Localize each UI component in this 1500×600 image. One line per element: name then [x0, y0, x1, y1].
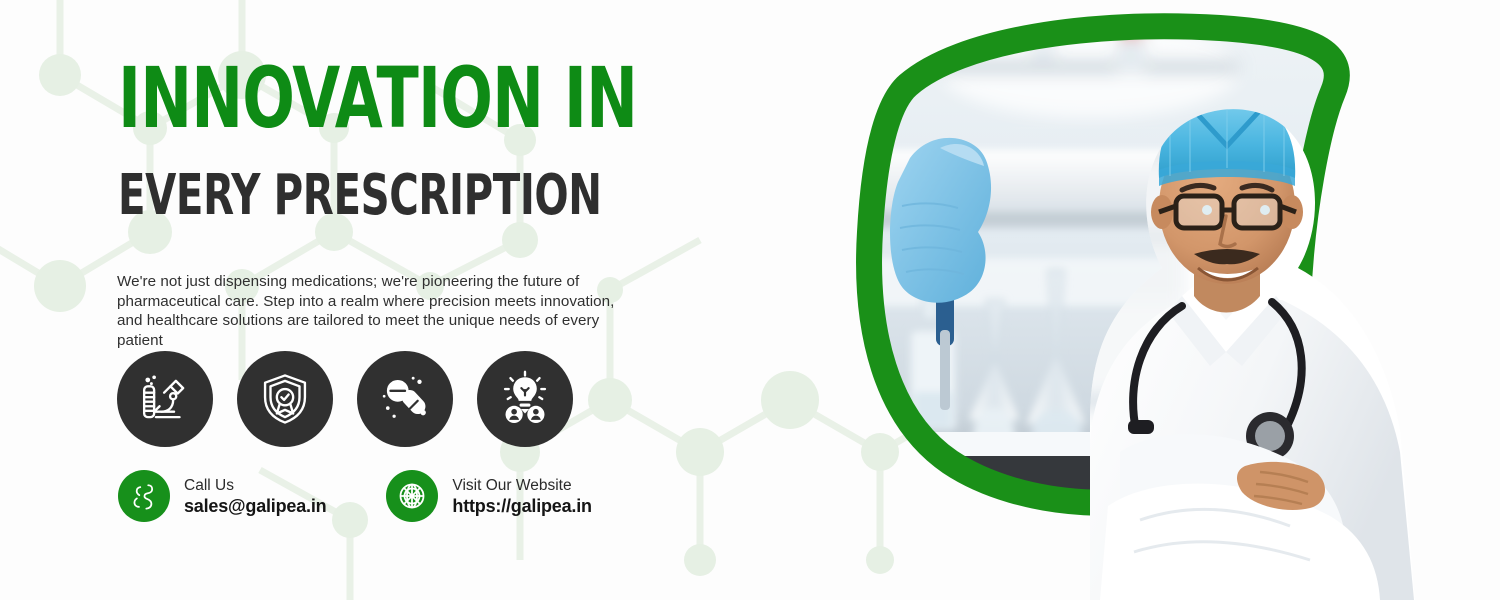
website-value[interactable]: https://galipea.in — [452, 495, 591, 517]
phone-icon-circle — [118, 470, 170, 522]
contact-item-website[interactable]: Visit Our Website https://galipea.in — [386, 470, 591, 522]
feature-badge-medication-products[interactable] — [357, 351, 453, 447]
pills-capsule-icon — [376, 370, 434, 428]
website-label: Visit Our Website — [452, 476, 591, 495]
feature-badge-innovation-team[interactable] — [477, 351, 573, 447]
lightbulb-team-icon — [496, 370, 554, 428]
feature-badge-quality-assurance[interactable] — [237, 351, 333, 447]
headline-line-1: INNOVATION IN — [118, 56, 637, 140]
shield-quality-badge-icon — [256, 370, 314, 428]
feature-badge-research-and-development[interactable] — [117, 351, 213, 447]
body-paragraph: We're not just dispensing medications; w… — [117, 272, 622, 350]
phone-value[interactable]: sales@galipea.in — [184, 495, 326, 517]
headline-line-2: EVERY PRESCRIPTION — [118, 168, 602, 224]
globe-website-icon — [396, 480, 428, 512]
phone-label: Call Us — [184, 476, 326, 495]
microscope-test-tube-icon — [136, 370, 194, 428]
contact-row: Call Us sales@galipea.in — [118, 470, 592, 522]
content-column: INNOVATION IN EVERY PRESCRIPTION We're n… — [0, 0, 700, 600]
contact-item-phone[interactable]: Call Us sales@galipea.in — [118, 470, 326, 522]
website-icon-circle — [386, 470, 438, 522]
website-text-block: Visit Our Website https://galipea.in — [452, 476, 591, 517]
phone-text-block: Call Us sales@galipea.in — [184, 476, 326, 517]
hero-artwork — [790, 0, 1500, 600]
promo-banner: INNOVATION IN EVERY PRESCRIPTION We're n… — [0, 0, 1500, 600]
feature-icon-row — [117, 351, 573, 447]
phone-handset-icon — [129, 481, 159, 511]
